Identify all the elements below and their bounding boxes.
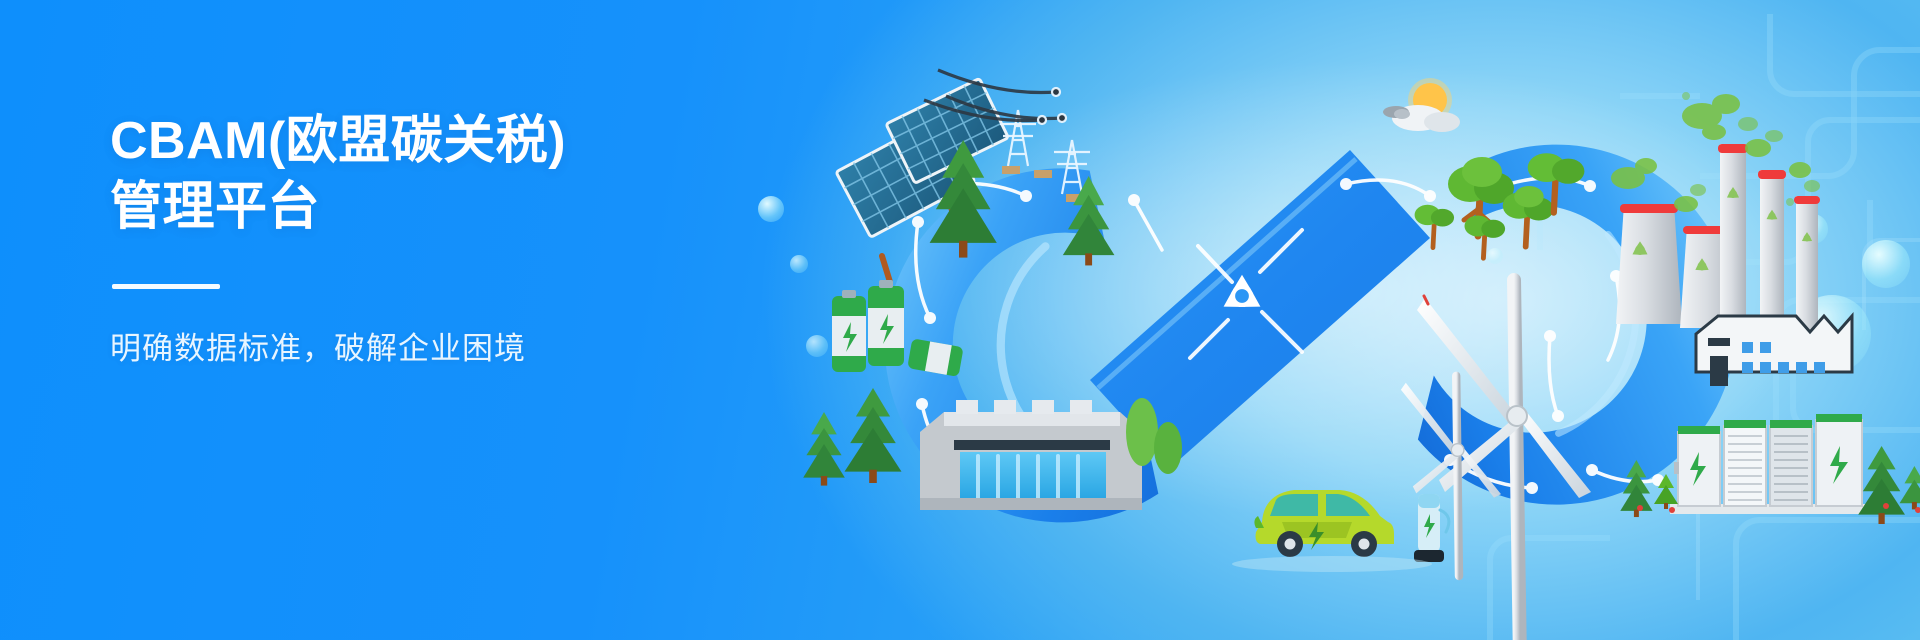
pine-tree <box>845 388 902 483</box>
hero-copy: CBAM(欧盟碳关税) 管理平台 明确数据标准，破解企业困境 <box>110 108 830 369</box>
page-title-line-1: CBAM(欧盟碳关税) <box>110 112 566 170</box>
hydroelectric-dam <box>920 400 1142 510</box>
pine-tree <box>803 412 845 486</box>
page-title: CBAM(欧盟碳关税) 管理平台 <box>110 108 830 240</box>
page-title-line-2: 管理平台 <box>110 178 320 236</box>
title-divider <box>112 284 220 289</box>
page-subtitle: 明确数据标准，破解企业困境 <box>110 329 830 369</box>
hero-banner: CBAM(欧盟碳关税) 管理平台 明确数据标准，破解企业困境 <box>0 0 1920 640</box>
circular-economy-illustration <box>790 0 1920 640</box>
